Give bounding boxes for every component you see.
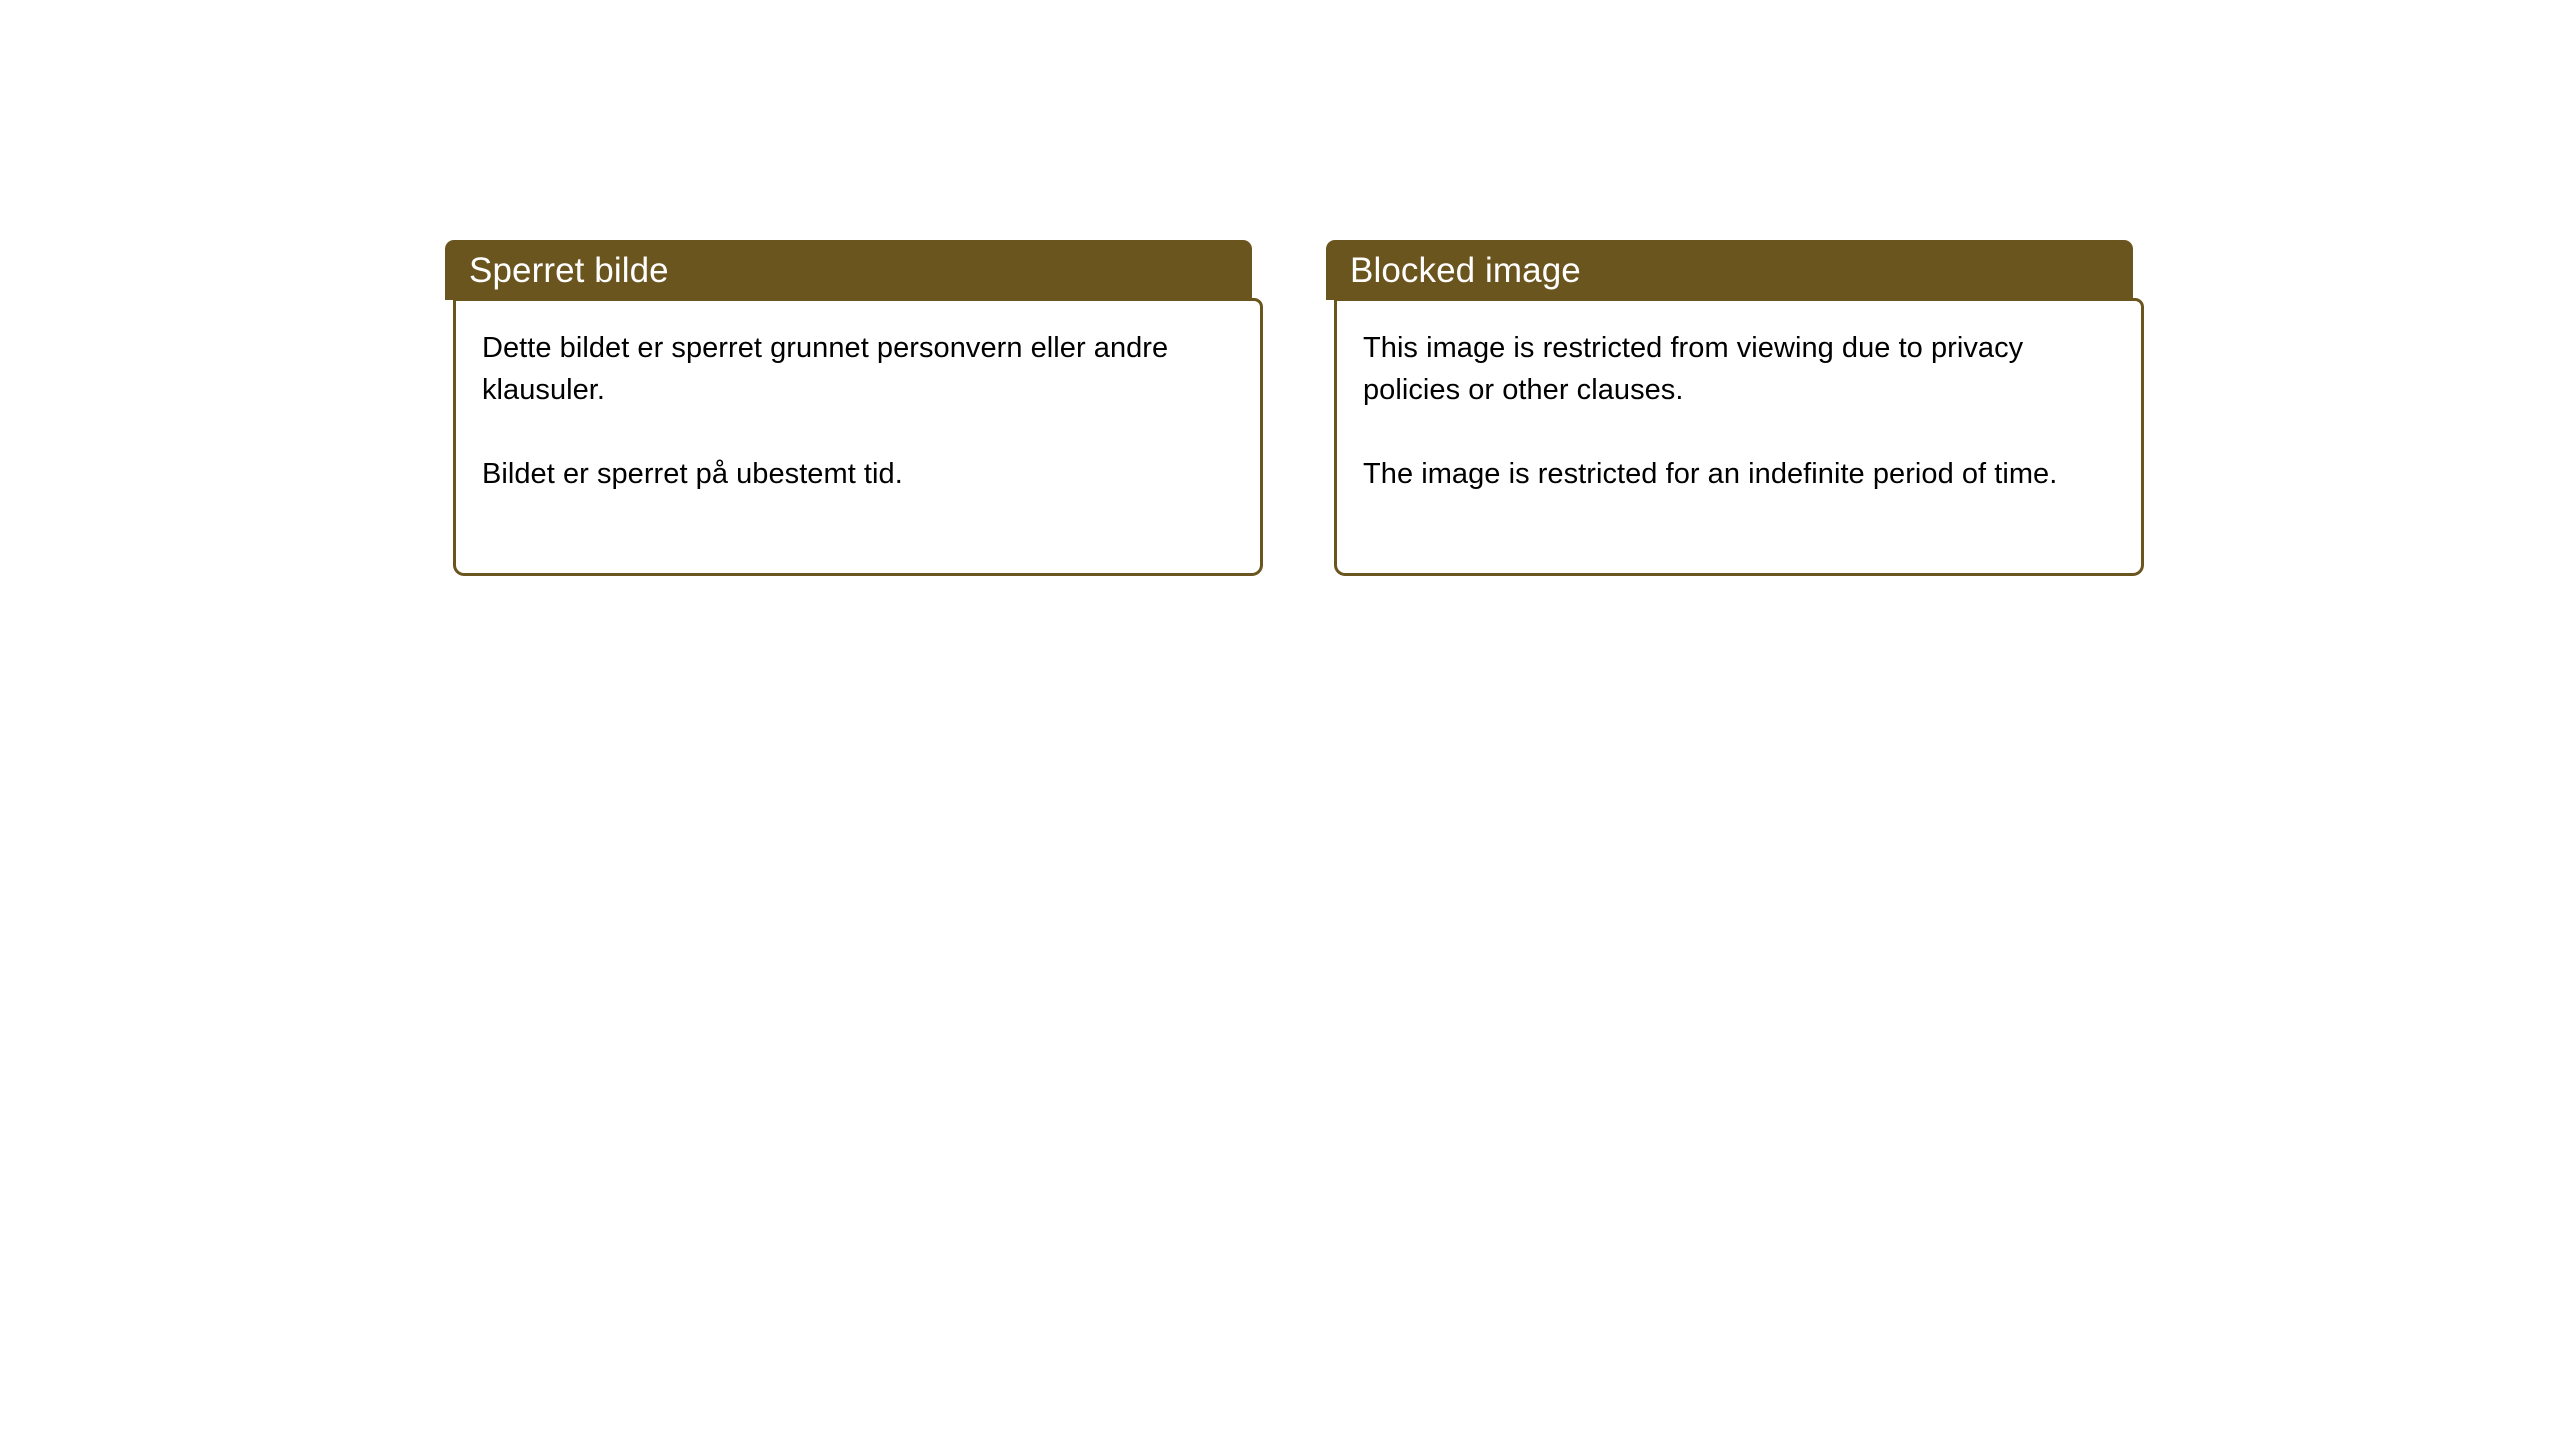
panel-body-no: Dette bildet er sperret grunnet personve… (453, 298, 1263, 576)
panel-paragraph-en-2: The image is restricted for an indefinit… (1363, 453, 2115, 495)
panel-title-no: Sperret bilde (469, 253, 669, 288)
panel-header-no: Sperret bilde (445, 240, 1252, 300)
blocked-image-panel-en: Blocked image This image is restricted f… (1326, 240, 2144, 576)
blocked-image-notice-group: Sperret bilde Dette bildet er sperret gr… (445, 240, 2144, 576)
page-canvas: Sperret bilde Dette bildet er sperret gr… (0, 0, 2560, 1440)
panel-title-en: Blocked image (1350, 253, 1581, 288)
panel-paragraph-en-1: This image is restricted from viewing du… (1363, 327, 2115, 411)
panel-body-en: This image is restricted from viewing du… (1334, 298, 2144, 576)
panel-paragraph-no-2: Bildet er sperret på ubestemt tid. (482, 453, 1234, 495)
panel-header-en: Blocked image (1326, 240, 2133, 300)
panel-paragraph-no-1: Dette bildet er sperret grunnet personve… (482, 327, 1234, 411)
blocked-image-panel-no: Sperret bilde Dette bildet er sperret gr… (445, 240, 1263, 576)
